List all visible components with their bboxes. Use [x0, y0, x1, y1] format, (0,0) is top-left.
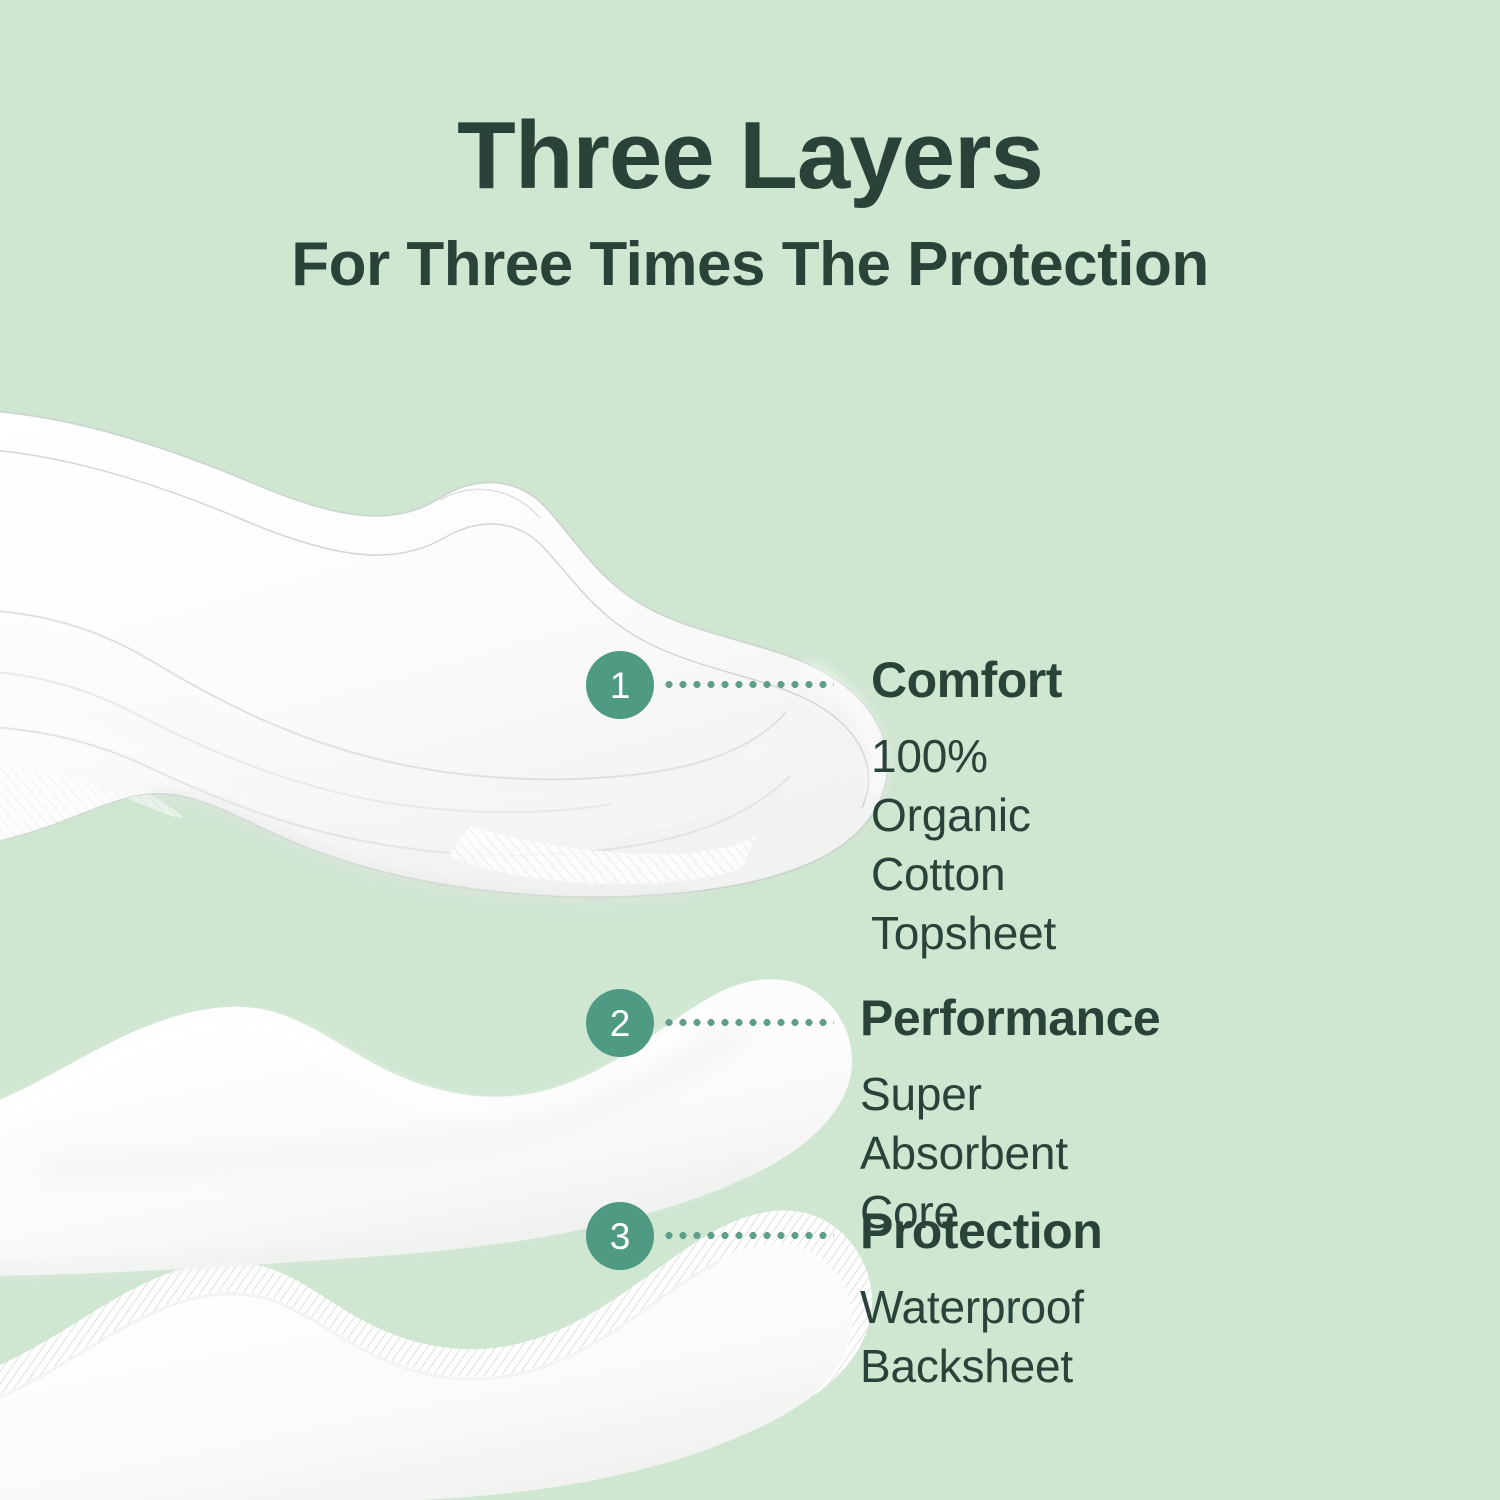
callout-text-3: Protection Waterproof Backsheet — [860, 1206, 1102, 1396]
callout-body-1: 100% Organic Cotton Topsheet — [871, 705, 1062, 963]
callout-badge-3[interactable]: 3 — [586, 1202, 654, 1270]
callout-leader-line-3 — [662, 1232, 834, 1239]
callout-heading-1: Comfort — [871, 655, 1062, 705]
callout-body-3: Waterproof Backsheet — [860, 1256, 1102, 1396]
callout-body-1-line-1: 100% Organic Cotton — [871, 727, 1062, 904]
callout-heading-3: Protection — [860, 1206, 1102, 1256]
callout-body-3-line-1: Waterproof Backsheet — [860, 1278, 1102, 1396]
infographic-canvas: Three Layers For Three Times The Protect… — [0, 0, 1500, 1500]
callout-heading-2: Performance — [860, 993, 1160, 1043]
callout-text-1: Comfort 100% Organic Cotton Topsheet — [871, 655, 1062, 963]
callout-badge-1[interactable]: 1 — [586, 651, 654, 719]
page-subtitle: For Three Times The Protection — [0, 204, 1500, 296]
callout-badge-2[interactable]: 2 — [586, 989, 654, 1057]
layer-topsheet — [0, 410, 888, 899]
callout-body-1-line-2: Topsheet — [871, 904, 1062, 963]
callout-leader-line-1 — [662, 681, 834, 688]
header: Three Layers For Three Times The Protect… — [0, 0, 1500, 296]
callout-leader-line-2 — [662, 1019, 834, 1026]
product-illustration — [0, 370, 960, 1500]
page-title: Three Layers — [0, 0, 1500, 204]
